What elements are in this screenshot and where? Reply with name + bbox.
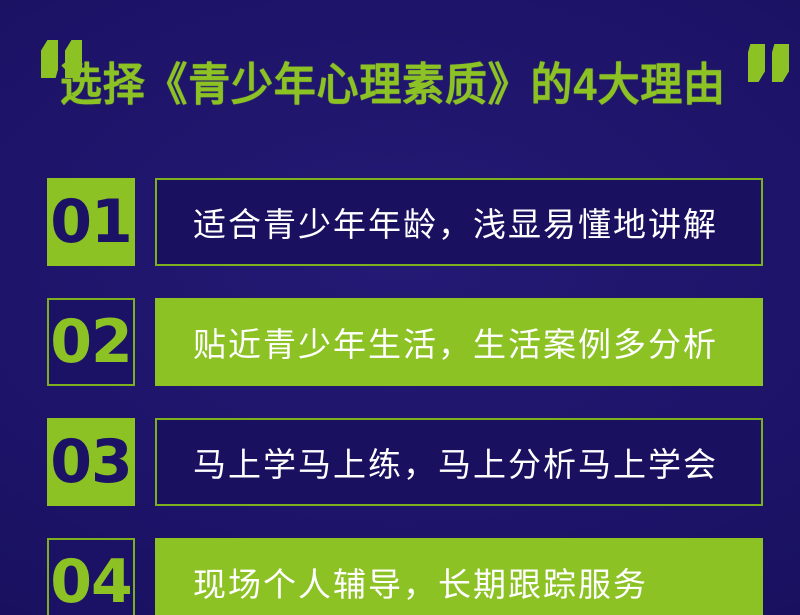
quote-close-icon — [748, 44, 794, 82]
reason-text: 适合青少年年龄，浅显易懂地讲解 — [155, 178, 763, 266]
reason-text: 马上学马上练，马上分析马上学会 — [155, 418, 763, 506]
poster-root: 选择《青少年心理素质》的4大理由 01 适合青少年年龄，浅显易懂地讲解 02 贴… — [0, 0, 800, 615]
reason-number-badge: 03 — [47, 418, 135, 506]
reason-row-3: 03 马上学马上练，马上分析马上学会 — [0, 408, 800, 528]
reason-number-badge: 02 — [47, 298, 135, 386]
reason-row-2: 02 贴近青少年生活，生活案例多分析 — [0, 288, 800, 408]
poster-header: 选择《青少年心理素质》的4大理由 — [0, 0, 800, 150]
page-title: 选择《青少年心理素质》的4大理由 — [60, 52, 702, 118]
reason-number-badge: 04 — [47, 538, 135, 615]
reason-row-1: 01 适合青少年年龄，浅显易懂地讲解 — [0, 168, 800, 288]
reason-number-badge: 01 — [47, 178, 135, 266]
reason-text: 贴近青少年生活，生活案例多分析 — [155, 298, 763, 386]
reason-text: 现场个人辅导，长期跟踪服务 — [155, 538, 763, 615]
reason-row-4: 04 现场个人辅导，长期跟踪服务 — [0, 528, 800, 615]
reason-list: 01 适合青少年年龄，浅显易懂地讲解 02 贴近青少年生活，生活案例多分析 03… — [0, 168, 800, 615]
